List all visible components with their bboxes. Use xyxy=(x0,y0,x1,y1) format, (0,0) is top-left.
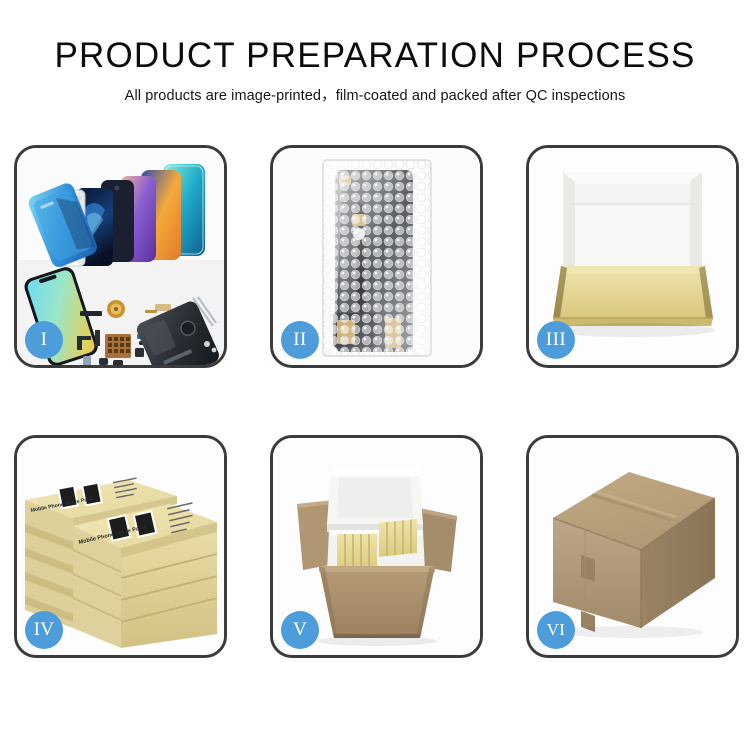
step-badge-5: V xyxy=(281,611,319,649)
process-step-card-5[interactable]: V xyxy=(270,435,483,658)
step-badge-6: VI xyxy=(537,611,575,649)
process-steps-grid: I xyxy=(14,145,736,658)
page-title: PRODUCT PREPARATION PROCESS xyxy=(0,34,750,78)
process-step-card-3[interactable]: III xyxy=(526,145,739,368)
step-badge-3: III xyxy=(537,321,575,359)
process-step-card-2[interactable]: II xyxy=(270,145,483,368)
product-preparation-process-page: PRODUCT PREPARATION PROCESS All products… xyxy=(0,0,750,750)
page-subtitle: All products are image-printed，film-coat… xyxy=(0,84,750,105)
process-step-card-1[interactable]: I xyxy=(14,145,227,368)
page-header: PRODUCT PREPARATION PROCESS All products… xyxy=(0,34,750,105)
process-step-card-6[interactable]: VI xyxy=(526,435,739,658)
step-badge-2: II xyxy=(281,321,319,359)
process-step-card-4[interactable]: Mobile Phone Spare Parts xyxy=(14,435,227,658)
step-badge-1: I xyxy=(25,321,63,359)
step-badge-4: IV xyxy=(25,611,63,649)
